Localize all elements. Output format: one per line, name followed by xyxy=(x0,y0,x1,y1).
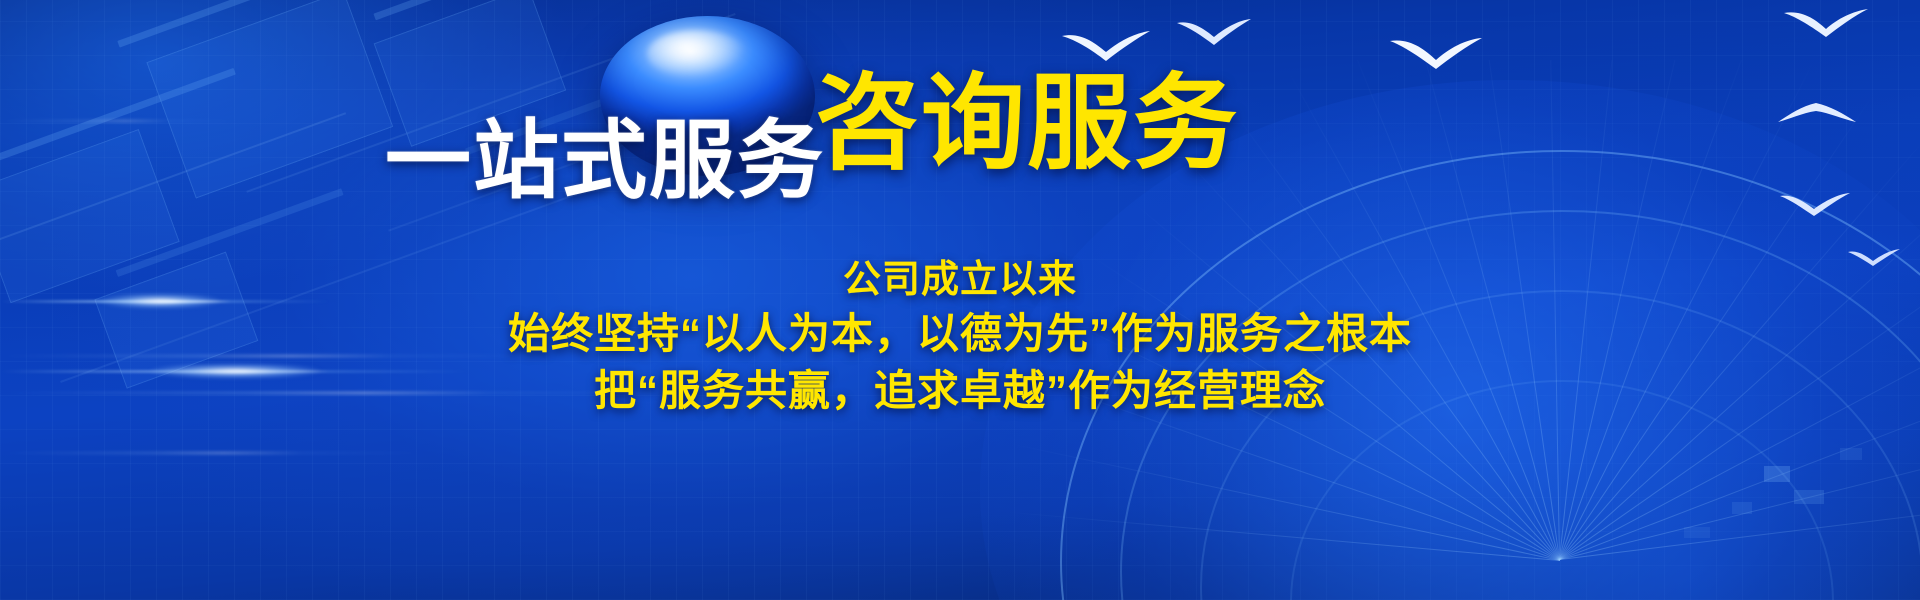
body-line-2: 始终坚持“以人为本，以德为先”作为服务之根本 xyxy=(0,306,1920,363)
body-line-3: 把“服务共赢，追求卓越”作为经营理念 xyxy=(0,363,1920,420)
headline-white: 一站式服务 xyxy=(385,118,825,204)
body-copy: 公司成立以来 始终坚持“以人为本，以德为先”作为服务之根本 把“服务共赢，追求卓… xyxy=(0,255,1920,420)
headline-group: 一站式服务 咨询服务 xyxy=(0,0,1920,260)
promotional-banner: 一站式服务 咨询服务 公司成立以来 始终坚持“以人为本，以德为先”作为服务之根本… xyxy=(0,0,1920,600)
headline-yellow: 咨询服务 xyxy=(815,72,1239,176)
body-line-1: 公司成立以来 xyxy=(0,255,1920,306)
